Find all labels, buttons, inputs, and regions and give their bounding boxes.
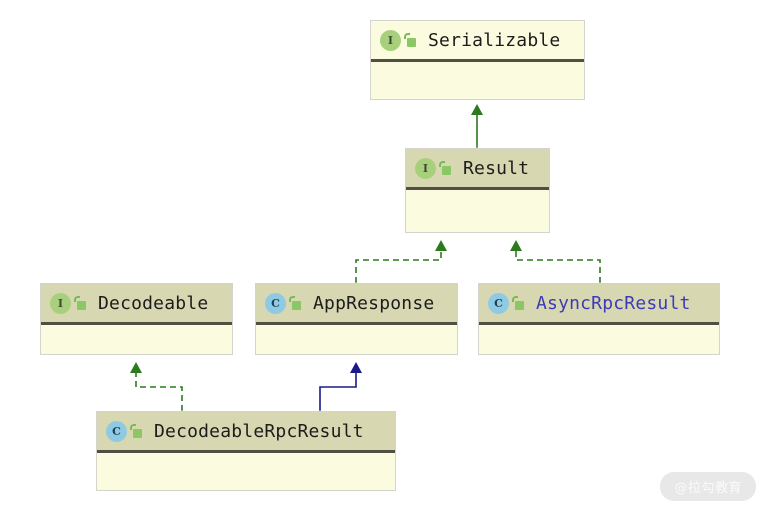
uml-node-result[interactable]: IResult bbox=[405, 148, 550, 233]
interface-badge-icon: I bbox=[415, 158, 436, 179]
class-badge-icon: C bbox=[488, 293, 509, 314]
unlocked-padlock-icon bbox=[130, 424, 143, 438]
arrowhead-result-to-serializable bbox=[471, 104, 483, 115]
uml-node-appresponse[interactable]: CAppResponse bbox=[255, 283, 458, 355]
interface-badge-icon: I bbox=[50, 293, 71, 314]
uml-class-diagram: ISerializableIResultIDecodeableCAppRespo… bbox=[0, 0, 771, 515]
uml-node-asyncrpcresult[interactable]: CAsyncRpcResult bbox=[478, 283, 720, 355]
edge-asyncrpcresult-to-result bbox=[516, 251, 600, 283]
node-header-asyncrpcresult: CAsyncRpcResult bbox=[479, 284, 719, 325]
edge-appresponse-to-result bbox=[356, 251, 441, 283]
node-header-appresponse: CAppResponse bbox=[256, 284, 457, 325]
unlocked-padlock-icon bbox=[439, 161, 452, 175]
node-header-decodeable: IDecodeable bbox=[41, 284, 232, 325]
node-members-asyncrpcresult bbox=[479, 325, 719, 353]
node-header-result: IResult bbox=[406, 149, 549, 190]
node-title-result: Result bbox=[463, 158, 529, 179]
node-members-appresponse bbox=[256, 325, 457, 353]
node-members-result bbox=[406, 190, 549, 231]
edge-decodeablerpcresult-to-decodeable bbox=[136, 373, 182, 411]
unlocked-padlock-icon bbox=[404, 33, 417, 47]
node-title-appresponse: AppResponse bbox=[313, 293, 434, 314]
class-badge-icon: C bbox=[265, 293, 286, 314]
node-members-serializable bbox=[371, 62, 584, 98]
node-title-asyncrpcresult: AsyncRpcResult bbox=[536, 293, 691, 314]
arrowhead-appresponse-to-result bbox=[435, 240, 447, 251]
node-members-decodeablerpcresult bbox=[97, 453, 395, 489]
unlocked-padlock-icon bbox=[289, 296, 302, 310]
edge-decodeablerpcresult-to-appresponse bbox=[320, 373, 356, 411]
watermark: @拉勾教育 bbox=[660, 472, 756, 501]
arrowhead-asyncrpcresult-to-result bbox=[510, 240, 522, 251]
unlocked-padlock-icon bbox=[74, 296, 87, 310]
uml-node-decodeablerpcresult[interactable]: CDecodeableRpcResult bbox=[96, 411, 396, 491]
uml-node-serializable[interactable]: ISerializable bbox=[370, 20, 585, 100]
node-members-decodeable bbox=[41, 325, 232, 353]
node-header-serializable: ISerializable bbox=[371, 21, 584, 62]
interface-badge-icon: I bbox=[380, 30, 401, 51]
node-header-decodeablerpcresult: CDecodeableRpcResult bbox=[97, 412, 395, 453]
node-title-decodeable: Decodeable bbox=[98, 293, 208, 314]
class-badge-icon: C bbox=[106, 421, 127, 442]
arrowhead-decodeablerpcresult-to-appresponse bbox=[350, 362, 362, 373]
arrowhead-decodeablerpcresult-to-decodeable bbox=[130, 362, 142, 373]
node-title-serializable: Serializable bbox=[428, 30, 560, 51]
unlocked-padlock-icon bbox=[512, 296, 525, 310]
node-title-decodeablerpcresult: DecodeableRpcResult bbox=[154, 421, 364, 442]
uml-node-decodeable[interactable]: IDecodeable bbox=[40, 283, 233, 355]
